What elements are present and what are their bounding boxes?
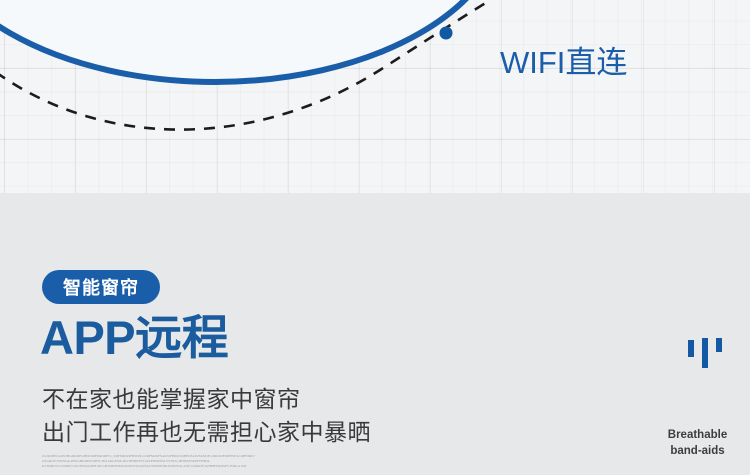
arc-interior-fill <box>0 0 505 82</box>
body-copy: 不在家也能掌握家中窗帘 出门工作再也无需担心家中暴晒 <box>42 383 371 449</box>
product-banner-page: WIFI直连 智能窗帘 APP远程 不在家也能掌握家中窗帘 出门工作再也无需担心… <box>0 0 750 475</box>
mark-bar-right <box>716 338 722 352</box>
category-badge: 智能窗帘 <box>42 270 160 304</box>
fineprint-block: OLJKDFJGLDSJHGOKDFGHSKSDFDKSDFJL_SDFMKSD… <box>42 454 342 469</box>
signal-node-dot <box>440 27 453 40</box>
body-line-2: 出门工作再也无需担心家中暴晒 <box>42 416 371 449</box>
top-hero-panel: WIFI直连 <box>0 0 750 193</box>
mark-caption-line-1: Breathable <box>645 427 750 443</box>
mark-bar-left <box>688 340 694 357</box>
three-bars-mark-icon <box>688 338 724 370</box>
body-line-1: 不在家也能掌握家中窗帘 <box>42 383 371 416</box>
top-illustration <box>0 0 750 193</box>
mark-bar-center <box>702 338 708 368</box>
mark-caption-line-2: band-aids <box>645 443 750 459</box>
bottom-content-panel: 智能窗帘 APP远程 不在家也能掌握家中窗帘 出门工作再也无需担心家中暴晒 OL… <box>0 193 750 475</box>
wifi-label: WIFI直连 <box>500 45 627 81</box>
page-title: APP远程 <box>40 311 228 365</box>
fineprint-line-3: KVNDKJVC0JSDIF;UULFDSGKJHF-DLGHJTRFHJKKS… <box>42 464 342 469</box>
mark-caption: Breathable band-aids <box>645 427 750 459</box>
